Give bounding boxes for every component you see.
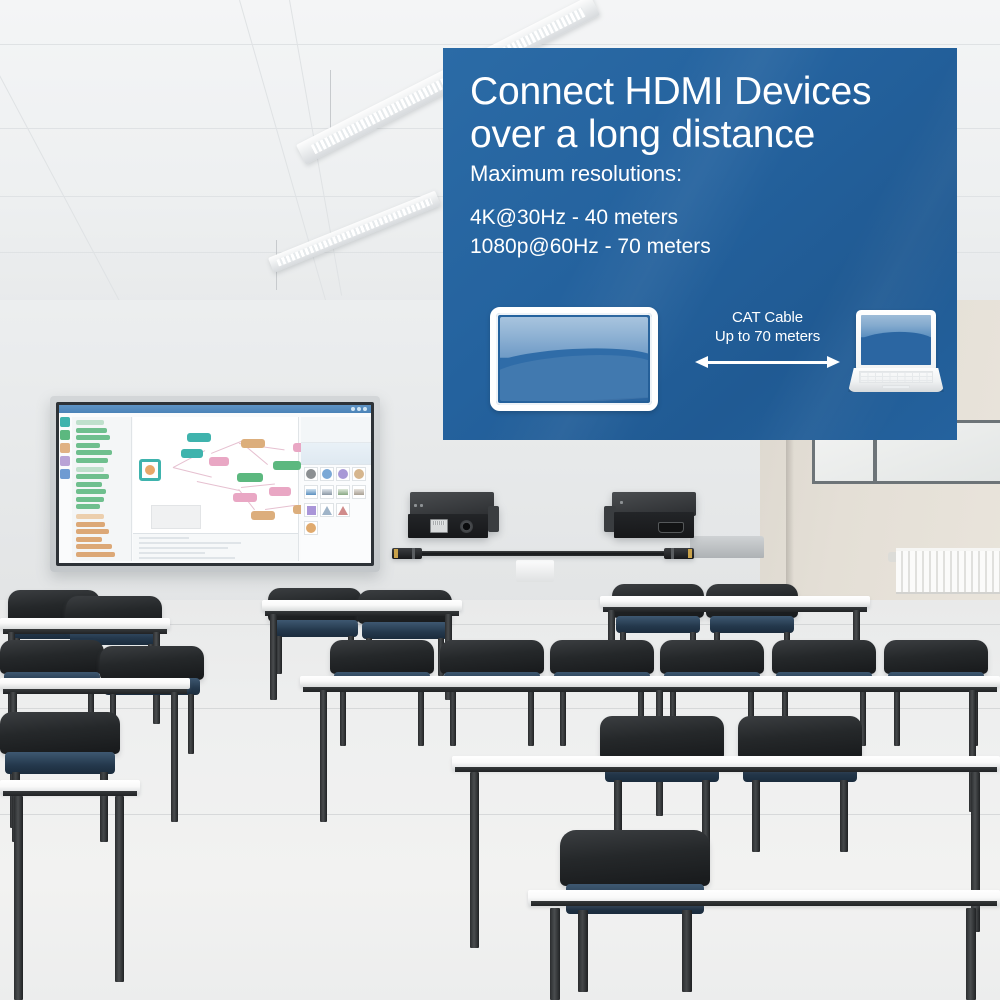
hdmi-extender-receiver [604,492,700,546]
hdmi-connector [392,548,422,559]
monitor-bezel [490,307,658,411]
app-blocks-panel[interactable] [72,417,132,561]
connection-diagram: CAT Cable Up to 70 meters [443,288,957,440]
window-controls[interactable] [351,407,367,411]
background-laptop [690,536,764,558]
promo-title: Connect HDMI Devices over a long distanc… [470,70,930,156]
color-swatch-row[interactable] [301,465,371,483]
rj45-port [430,519,448,533]
interactive-whiteboard-display[interactable] [50,396,380,572]
classroom-hdmi-extender-promo: Connect HDMI Devices over a long distanc… [0,0,1000,1000]
app-tool-sidebar[interactable] [60,417,70,479]
shape-swatch-row[interactable] [301,519,371,537]
table [528,890,1000,1000]
hdmi-port [658,522,684,533]
hdmi-connector [664,548,694,559]
cable-distance-group: CAT Cable Up to 70 meters [695,308,840,369]
display-bezel [56,402,374,566]
promo-resolutions: 4K@30Hz - 40 meters 1080p@60Hz - 70 mete… [470,203,711,261]
shape-swatch-row[interactable] [301,501,371,519]
double-arrow-icon [695,355,840,369]
desk-object [516,560,554,582]
hdmi-extender-transmitter [404,492,500,546]
cable-label: CAT Cable Up to 70 meters [695,308,840,346]
laptop-screen [861,315,931,365]
power-port [460,520,473,533]
gradient-swatch-row[interactable] [301,483,371,501]
app-title-bar [59,405,371,413]
promo-panel: Connect HDMI Devices over a long distanc… [443,48,957,440]
app-log-pane [133,533,298,561]
laptop-lid [856,310,936,369]
laptop-keyboard [859,371,933,383]
app-mindmap-canvas[interactable] [133,417,299,561]
laptop-trackpad [882,385,910,389]
canvas-note [151,505,201,529]
selected-node[interactable] [139,459,161,481]
display-screen[interactable] [59,405,371,563]
app-properties-panel[interactable] [301,417,371,561]
monitor-icon [490,307,658,411]
radiator [896,548,1000,594]
table [0,780,140,1000]
hdmi-cable [418,551,668,556]
promo-subtitle: Maximum resolutions: [470,161,682,187]
laptop-icon [848,310,944,398]
